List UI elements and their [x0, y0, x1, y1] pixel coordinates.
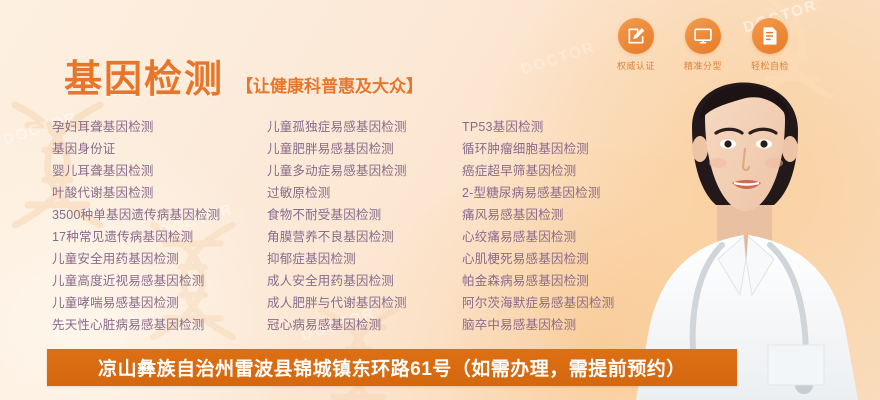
watermark-text: DOCTOR	[519, 39, 597, 79]
headline-subtitle: 【让健康科普惠及大众】	[236, 72, 423, 97]
list-item[interactable]: 心绞痛易感基因检测	[462, 226, 672, 248]
list-item[interactable]: 脑卒中易感基因检测	[462, 314, 672, 336]
list-item[interactable]: 孕妇耳聋基因检测	[52, 116, 267, 138]
service-column: TP53基因检测 循环肿瘤细胞基因检测 癌症超早筛基因检测 2-型糖尿病易感基因…	[462, 116, 672, 336]
list-item[interactable]: 17种常见遗传病基因检测	[52, 226, 267, 248]
list-item[interactable]: 痛风易感基因检测	[462, 204, 672, 226]
promo-banner: DOCTOR DOCTOR DOCTOR DOCTOR DOCTOR	[0, 0, 880, 400]
service-column: 孕妇耳聋基因检测 基因身份证 婴儿耳聋基因检测 叶酸代谢基因检测 3500种单基…	[52, 116, 267, 336]
list-item[interactable]: 抑郁症基因检测	[267, 248, 462, 270]
address-bar: 凉山彝族自治州雷波县锦城镇东环路61号（如需办理，需提前预约）	[47, 349, 737, 386]
list-item[interactable]: 叶酸代谢基因检测	[52, 182, 267, 204]
list-item[interactable]: 基因身份证	[52, 138, 267, 160]
headline-main: 基因检测	[64, 48, 224, 103]
feature-label: 轻松自检	[746, 59, 794, 72]
list-item[interactable]: 心肌梗死易感基因检测	[462, 248, 672, 270]
list-item[interactable]: 冠心病易感基因检测	[267, 314, 462, 336]
service-list: 孕妇耳聋基因检测 基因身份证 婴儿耳聋基因检测 叶酸代谢基因检测 3500种单基…	[52, 116, 672, 336]
list-item[interactable]: 帕金森病易感基因检测	[462, 270, 672, 292]
service-column: 儿童孤独症易感基因检测 儿童肥胖易感基因检测 儿童多动症易感基因检测 过敏原检测…	[267, 116, 462, 336]
feature-item-typing[interactable]: 精准分型	[679, 18, 727, 72]
list-item[interactable]: 儿童肥胖易感基因检测	[267, 138, 462, 160]
feature-label: 权威认证	[612, 59, 660, 72]
page-title: 基因检测 【让健康科普惠及大众】	[64, 48, 423, 103]
feature-item-authority[interactable]: 权威认证	[612, 18, 660, 72]
feature-badges: 权威认证 精准分型 轻松自检	[612, 18, 794, 72]
list-item[interactable]: 3500种单基因遗传病基因检测	[52, 204, 267, 226]
list-item[interactable]: 婴儿耳聋基因检测	[52, 160, 267, 182]
address-text: 凉山彝族自治州雷波县锦城镇东环路61号（如需办理，需提前预约）	[98, 354, 686, 381]
list-item[interactable]: 癌症超早筛基因检测	[462, 160, 672, 182]
list-item[interactable]: 儿童安全用药基因检测	[52, 248, 267, 270]
list-item[interactable]: 儿童哮喘易感基因检测	[52, 292, 267, 314]
report-icon	[752, 18, 788, 54]
list-item[interactable]: 儿童高度近视易感基因检测	[52, 270, 267, 292]
monitor-icon	[685, 18, 721, 54]
list-item[interactable]: 循环肿瘤细胞基因检测	[462, 138, 672, 160]
list-item[interactable]: 2-型糖尿病易感基因检测	[462, 182, 672, 204]
list-item[interactable]: TP53基因检测	[462, 116, 672, 138]
list-item[interactable]: 成人肥胖与代谢基因检测	[267, 292, 462, 314]
list-item[interactable]: 阿尔茨海默症易感基因检测	[462, 292, 672, 314]
edit-document-icon	[618, 18, 654, 54]
feature-item-selfcheck[interactable]: 轻松自检	[746, 18, 794, 72]
list-item[interactable]: 过敏原检测	[267, 182, 462, 204]
list-item[interactable]: 儿童多动症易感基因检测	[267, 160, 462, 182]
list-item[interactable]: 成人安全用药基因检测	[267, 270, 462, 292]
list-item[interactable]: 食物不耐受基因检测	[267, 204, 462, 226]
list-item[interactable]: 先天性心脏病易感基因检测	[52, 314, 267, 336]
feature-label: 精准分型	[679, 59, 727, 72]
list-item[interactable]: 角膜营养不良基因检测	[267, 226, 462, 248]
list-item[interactable]: 儿童孤独症易感基因检测	[267, 116, 462, 138]
